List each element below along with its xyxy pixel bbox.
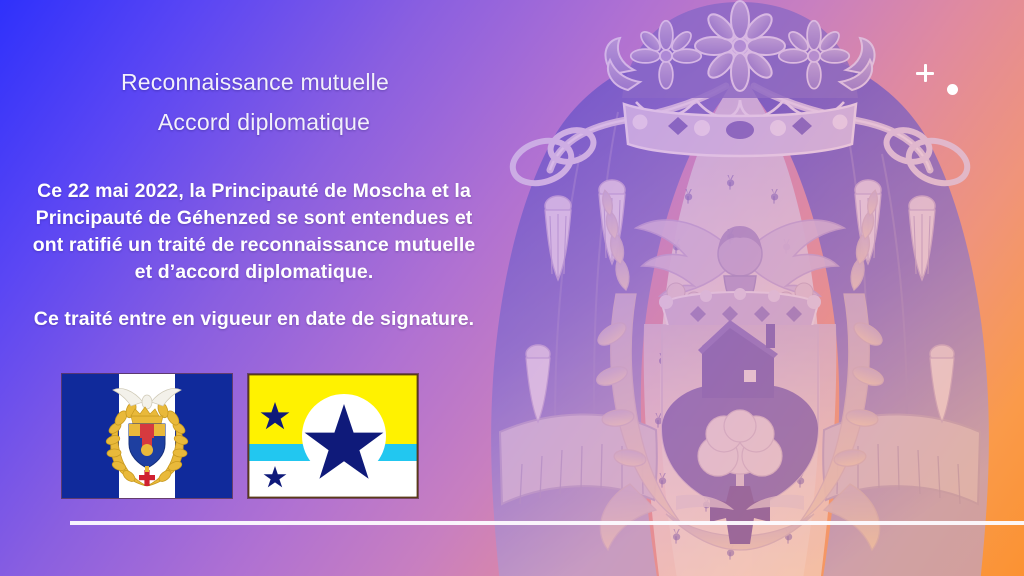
flag-row: [62, 374, 418, 498]
title-line-2: Accord diplomatique: [78, 102, 450, 142]
body-paragraph-1: Ce 22 mai 2022, la Principauté de Moscha…: [24, 178, 484, 286]
title-block: Reconnaissance mutuelle Accord diplomati…: [60, 62, 450, 142]
body-paragraph-2: Ce traité entre en vigueur en date de si…: [24, 306, 484, 333]
dot-icon: [947, 84, 958, 95]
body-block: Ce 22 mai 2022, la Principauté de Moscha…: [24, 178, 484, 333]
title-line-1: Reconnaissance mutuelle: [60, 62, 450, 102]
bottom-rule: [70, 521, 1024, 525]
royal-achievement-illustration: [430, 0, 1024, 576]
flag-moscha: [62, 374, 232, 498]
sparkle-plus-icon: [916, 64, 934, 82]
flag-gehenzed: [248, 374, 418, 498]
slide-canvas: Reconnaissance mutuelle Accord diplomati…: [0, 0, 1024, 576]
